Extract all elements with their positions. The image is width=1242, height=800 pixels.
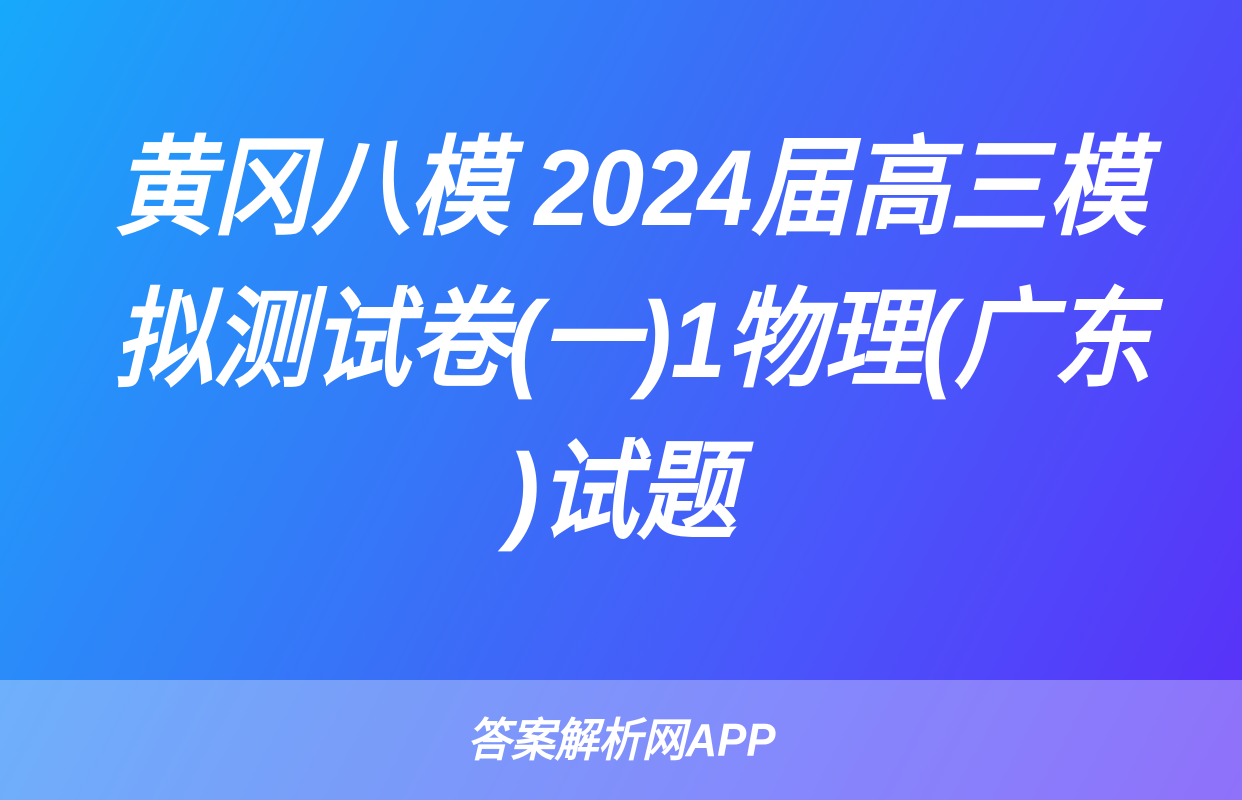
watermark-band: 答案解析网APP bbox=[0, 680, 1242, 800]
title-block: 黄冈八模 2024届高三模 拟测试卷(一)1物理(广东 )试题 bbox=[0, 0, 1242, 680]
watermark-label: 答案解析网APP bbox=[467, 717, 775, 763]
title-line-3: )试题 bbox=[114, 416, 1128, 568]
title-line-1: 黄冈八模 2024届高三模 bbox=[114, 112, 1128, 264]
poster-canvas: 黄冈八模 2024届高三模 拟测试卷(一)1物理(广东 )试题 答案解析网APP bbox=[0, 0, 1242, 800]
title-line-2: 拟测试卷(一)1物理(广东 bbox=[114, 264, 1128, 416]
